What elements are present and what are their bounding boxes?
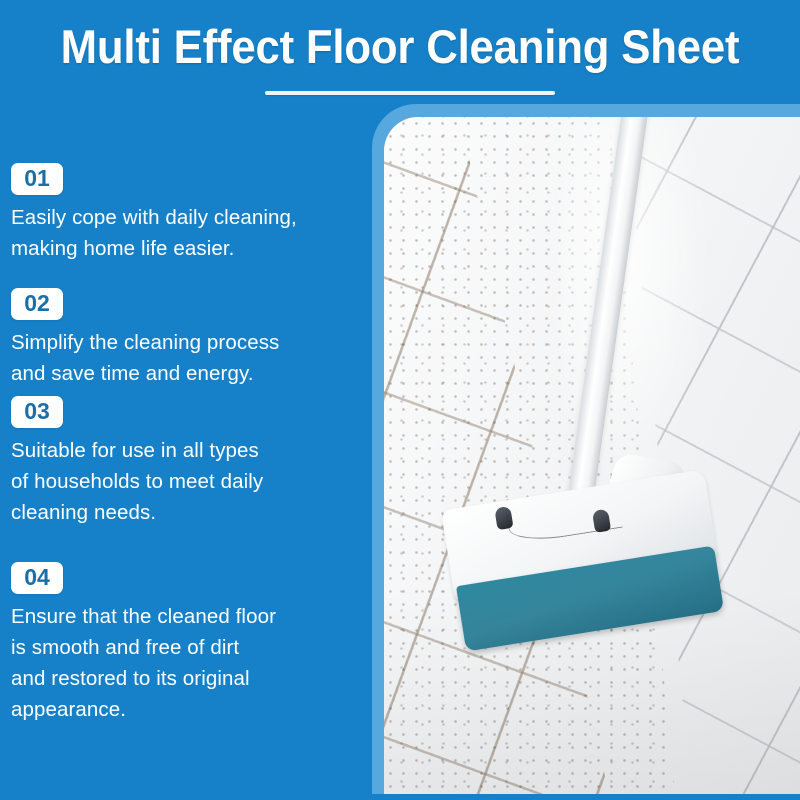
floor-scene [384,117,800,794]
product-photo-panel [372,104,800,800]
feature-number-badge: 03 [11,396,63,428]
poster-header: Multi Effect Floor Cleaning Sheet [0,0,800,118]
feature-item-01: 01 Easily cope with daily cleaning, maki… [11,163,361,264]
feature-description: Simplify the cleaning process and save t… [11,327,361,389]
feature-item-02: 02 Simplify the cleaning process and sav… [11,288,361,389]
page-title: Multi Effect Floor Cleaning Sheet [28,19,772,75]
product-photo [384,117,800,794]
feature-item-04: 04 Ensure that the cleaned floor is smoo… [11,562,361,725]
mop-wire [506,496,622,546]
product-poster: Multi Effect Floor Cleaning Sheet 01 Eas… [0,0,800,800]
feature-description: Ensure that the cleaned floor is smooth … [11,601,361,725]
feature-description: Suitable for use in all types of househo… [11,435,361,528]
feature-number-badge: 01 [11,163,63,195]
feature-number-badge: 04 [11,562,63,594]
feature-number-badge: 02 [11,288,63,320]
feature-item-03: 03 Suitable for use in all types of hous… [11,396,361,528]
title-divider [265,91,555,95]
feature-description: Easily cope with daily cleaning, making … [11,202,361,264]
